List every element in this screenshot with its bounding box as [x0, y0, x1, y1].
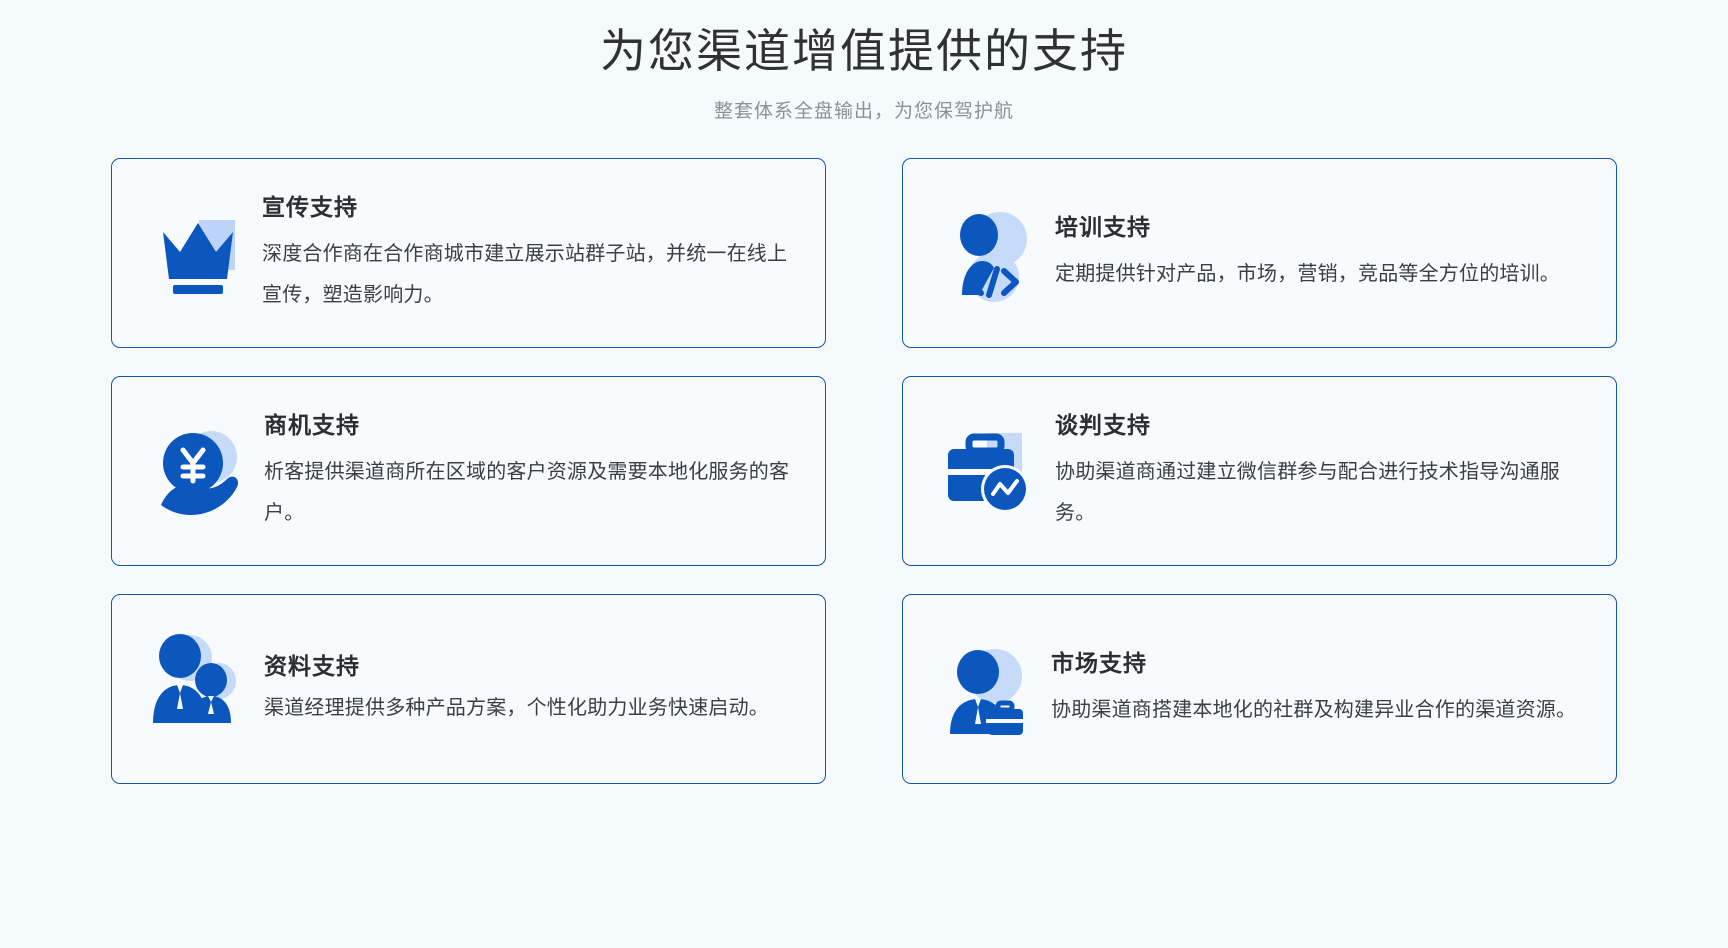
card-description: 深度合作商在合作商城市建立展示站群子站，并统一在线上宣传，塑造影响力。: [262, 234, 799, 316]
support-card-negotiation[interactable]: 谈判支持 协助渠道商通过建立微信群参与配合进行技术指导沟通服务。: [902, 376, 1617, 566]
card-description: 定期提供针对产品，市场，营销，竞品等全方位的培训。: [1055, 254, 1590, 295]
two-people-icon: [140, 633, 258, 745]
card-body: 市场支持 协助渠道商搭建本地化的社群及构建异业合作的渠道资源。: [1049, 647, 1594, 731]
card-title: 商机支持: [264, 409, 799, 441]
card-title: 市场支持: [1051, 647, 1590, 679]
support-card-training[interactable]: 培训支持 定期提供针对产品，市场，营销，竞品等全方位的培训。: [902, 158, 1617, 348]
yuan-hand-icon: [140, 415, 258, 527]
card-title: 宣传支持: [262, 191, 799, 223]
card-body: 谈判支持 协助渠道商通过建立微信群参与配合进行技术指导沟通服务。: [1049, 409, 1594, 534]
card-body: 宣传支持 深度合作商在合作商城市建立展示站群子站，并统一在线上宣传，塑造影响力。: [258, 191, 803, 316]
card-title: 资料支持: [264, 650, 799, 682]
card-title: 谈判支持: [1055, 409, 1590, 441]
card-title: 培训支持: [1055, 211, 1590, 243]
card-body: 商机支持 析客提供渠道商所在区域的客户资源及需要本地化服务的客户。: [258, 409, 803, 534]
card-description: 渠道经理提供多种产品方案，个性化助力业务快速启动。: [264, 688, 799, 729]
person-briefcase-icon: [931, 633, 1049, 745]
briefcase-chart-icon: [931, 415, 1049, 527]
support-card-marketing[interactable]: 市场支持 协助渠道商搭建本地化的社群及构建异业合作的渠道资源。: [902, 594, 1617, 784]
crown-icon: [140, 197, 258, 309]
support-section: 为您渠道增值提供的支持 整套体系全盘输出，为您保驾护航 宣传支持 深度合作商在合…: [0, 0, 1728, 948]
support-card-materials[interactable]: 资料支持 渠道经理提供多种产品方案，个性化助力业务快速启动。: [111, 594, 826, 784]
card-body: 培训支持 定期提供针对产品，市场，营销，竞品等全方位的培训。: [1049, 211, 1594, 295]
support-card-promotion[interactable]: 宣传支持 深度合作商在合作商城市建立展示站群子站，并统一在线上宣传，塑造影响力。: [111, 158, 826, 348]
support-cards-grid: 宣传支持 深度合作商在合作商城市建立展示站群子站，并统一在线上宣传，塑造影响力。…: [111, 158, 1617, 784]
card-body: 资料支持 渠道经理提供多种产品方案，个性化助力业务快速启动。: [258, 650, 803, 729]
card-description: 析客提供渠道商所在区域的客户资源及需要本地化服务的客户。: [264, 452, 799, 534]
card-description: 协助渠道商搭建本地化的社群及构建异业合作的渠道资源。: [1051, 690, 1590, 731]
card-description: 协助渠道商通过建立微信群参与配合进行技术指导沟通服务。: [1055, 452, 1590, 534]
section-header: 为您渠道增值提供的支持 整套体系全盘输出，为您保驾护航: [0, 0, 1728, 126]
person-code-icon: [931, 197, 1049, 309]
support-card-business-opportunity[interactable]: 商机支持 析客提供渠道商所在区域的客户资源及需要本地化服务的客户。: [111, 376, 826, 566]
page-subtitle: 整套体系全盘输出，为您保驾护航: [0, 98, 1728, 126]
page-title: 为您渠道增值提供的支持: [0, 18, 1728, 84]
